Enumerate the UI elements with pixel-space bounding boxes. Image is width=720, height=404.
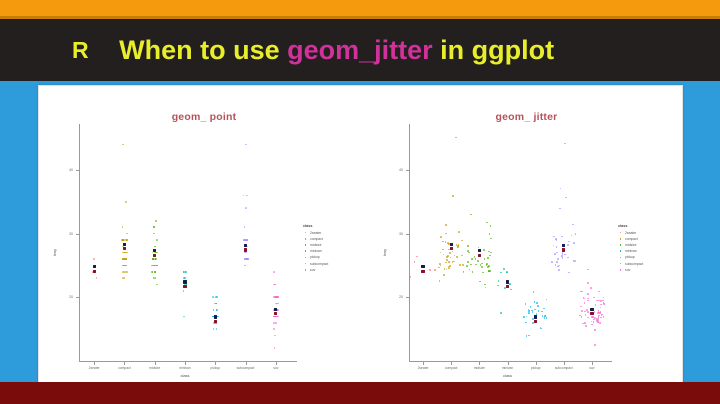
data-point xyxy=(600,300,602,302)
chart-title-left: geom_ point xyxy=(39,111,369,123)
legend-item-label: compact xyxy=(310,237,323,241)
data-point xyxy=(584,311,586,313)
data-point xyxy=(591,324,593,326)
data-point xyxy=(587,317,589,319)
data-point xyxy=(555,264,557,266)
data-point xyxy=(498,280,500,282)
legend-right: class2seatercompactmidsizeminivanpickups… xyxy=(618,224,643,273)
data-point xyxy=(593,297,595,299)
r-logo-label: R xyxy=(72,37,89,64)
data-point xyxy=(574,260,576,262)
legend-key-icon xyxy=(303,230,308,235)
mean-marker-crimson xyxy=(590,312,593,315)
data-point xyxy=(443,254,445,256)
data-point xyxy=(276,316,278,318)
data-point xyxy=(429,269,431,271)
data-point xyxy=(485,287,487,289)
data-point xyxy=(489,255,491,257)
data-point xyxy=(482,272,484,274)
legend-color-dot xyxy=(305,269,307,271)
data-point xyxy=(124,239,126,241)
data-point xyxy=(155,220,157,222)
data-point xyxy=(122,226,124,228)
data-point xyxy=(126,252,128,254)
mean-marker-crimson xyxy=(214,320,217,323)
data-point xyxy=(591,321,593,323)
data-point xyxy=(543,308,545,310)
x-axis-line xyxy=(79,361,297,362)
data-point xyxy=(557,266,559,268)
legend-key-icon xyxy=(618,267,623,272)
data-point xyxy=(216,296,218,298)
mean-marker-navy xyxy=(214,315,217,318)
data-point xyxy=(449,265,451,267)
x-tick xyxy=(215,362,216,365)
y-tick xyxy=(406,297,409,298)
data-point xyxy=(564,143,566,145)
data-point xyxy=(155,277,157,279)
data-point xyxy=(587,269,589,271)
data-point xyxy=(544,315,546,317)
data-point xyxy=(500,312,502,314)
data-point xyxy=(490,238,492,240)
mean-marker-crimson xyxy=(421,270,424,273)
mean-marker-navy xyxy=(506,280,509,283)
x-tick xyxy=(124,362,125,365)
data-point xyxy=(442,249,444,251)
x-tick xyxy=(246,362,247,365)
data-point xyxy=(213,328,215,330)
data-point xyxy=(93,258,95,260)
data-point xyxy=(452,195,454,197)
x-tick-label: pickup xyxy=(211,366,221,370)
data-point xyxy=(558,265,560,267)
data-point xyxy=(534,301,536,303)
data-point xyxy=(532,311,534,313)
legend-key-icon xyxy=(618,230,623,235)
mean-marker-crimson xyxy=(534,320,537,323)
mean-marker-navy xyxy=(478,249,481,252)
chart-title-right: geom_ jitter xyxy=(369,111,683,123)
data-point xyxy=(487,266,489,268)
data-point xyxy=(216,309,218,311)
data-point xyxy=(216,328,218,330)
data-point xyxy=(546,299,548,301)
data-point xyxy=(584,322,586,324)
data-point xyxy=(469,269,471,271)
data-point xyxy=(126,258,128,260)
data-point xyxy=(156,284,158,286)
mean-marker-navy xyxy=(562,244,565,247)
data-point xyxy=(598,310,600,312)
data-point xyxy=(594,317,596,319)
x-tick xyxy=(155,362,156,365)
data-point xyxy=(445,262,447,264)
data-point xyxy=(567,244,569,246)
data-point xyxy=(154,258,156,260)
data-point xyxy=(447,242,449,244)
data-point xyxy=(445,233,447,235)
data-point xyxy=(587,311,589,313)
legend-color-dot xyxy=(620,257,622,259)
data-point xyxy=(461,240,463,242)
data-point xyxy=(122,144,124,146)
data-point xyxy=(587,293,589,295)
data-point xyxy=(466,265,468,267)
data-point xyxy=(534,309,536,311)
data-point xyxy=(245,207,247,209)
data-point xyxy=(526,335,528,337)
data-point xyxy=(598,317,600,319)
data-point xyxy=(273,328,275,330)
data-point xyxy=(556,261,558,263)
legend-item-label: midsize xyxy=(310,243,322,247)
legend-item-label: suv xyxy=(625,268,630,272)
data-point xyxy=(455,137,457,139)
data-point xyxy=(122,271,124,273)
data-point xyxy=(470,264,472,266)
mean-marker-navy xyxy=(421,265,424,268)
data-point xyxy=(481,263,483,265)
data-point xyxy=(277,296,279,298)
data-point xyxy=(562,257,564,259)
data-point xyxy=(490,225,492,227)
data-point xyxy=(594,311,596,313)
data-point xyxy=(416,256,418,258)
data-point xyxy=(414,261,416,263)
data-point xyxy=(273,271,275,273)
legend-color-dot xyxy=(305,263,307,265)
legend-item-label: subcompact xyxy=(625,262,643,266)
data-point xyxy=(126,233,128,235)
x-tick xyxy=(94,362,95,365)
data-point xyxy=(540,328,542,330)
data-point xyxy=(581,310,583,312)
data-point xyxy=(274,296,276,298)
slide-title-row: R When to use geom_jitter in ggplot xyxy=(0,19,720,81)
data-point xyxy=(274,335,276,337)
data-point xyxy=(599,322,601,324)
data-point xyxy=(125,201,127,203)
data-point xyxy=(585,314,587,316)
data-point xyxy=(487,257,489,259)
data-point xyxy=(481,266,483,268)
data-point xyxy=(586,309,588,311)
mean-marker-navy xyxy=(93,265,96,268)
data-point xyxy=(156,239,158,241)
x-tick xyxy=(185,362,186,365)
mean-marker-navy xyxy=(153,249,156,252)
legend-color-dot xyxy=(305,232,307,234)
title-text-after: in ggplot xyxy=(433,35,554,65)
data-point xyxy=(442,241,444,243)
data-point xyxy=(245,144,247,146)
x-tick xyxy=(451,362,452,365)
data-point xyxy=(525,322,527,324)
legend-key-icon xyxy=(618,261,623,266)
bottom-accent-bar xyxy=(0,382,720,404)
data-point xyxy=(246,258,248,260)
data-point xyxy=(523,316,525,318)
data-point xyxy=(503,268,505,270)
data-point xyxy=(274,284,276,286)
data-point xyxy=(529,310,531,312)
legend-key-icon xyxy=(303,249,308,254)
y-axis-line xyxy=(79,124,80,361)
data-point xyxy=(246,195,248,197)
legend-color-dot xyxy=(305,250,307,252)
mean-marker-navy xyxy=(123,243,126,246)
data-point xyxy=(462,264,464,266)
x-tick-label: midsize xyxy=(149,366,160,370)
data-point xyxy=(183,316,185,318)
data-point xyxy=(557,258,559,260)
data-point xyxy=(562,253,564,255)
x-tick-label: 2seater xyxy=(89,366,100,370)
charts-card: geom_ point203040hwy2seatercompactmidsiz… xyxy=(38,85,683,392)
y-tick xyxy=(406,170,409,171)
data-point xyxy=(446,256,448,258)
mean-marker-navy xyxy=(183,280,186,283)
legend-item-label: subcompact xyxy=(310,262,328,266)
data-point xyxy=(124,277,126,279)
data-point xyxy=(479,281,481,283)
data-point xyxy=(126,271,128,273)
x-tick xyxy=(536,362,537,365)
data-point xyxy=(275,322,277,324)
mean-marker-navy xyxy=(244,244,247,247)
mean-marker-navy xyxy=(534,315,537,318)
x-tick xyxy=(592,362,593,365)
mean-marker-crimson xyxy=(478,254,481,257)
x-axis-title: class xyxy=(180,373,189,378)
data-point xyxy=(459,264,461,266)
legend-title: class xyxy=(303,224,328,228)
x-axis-line xyxy=(409,361,612,362)
y-tick-label: 40 xyxy=(389,168,403,172)
mean-marker-navy xyxy=(274,308,277,311)
data-point xyxy=(467,245,469,247)
data-point xyxy=(573,242,575,244)
y-tick-label: 20 xyxy=(59,295,73,299)
data-point xyxy=(155,246,157,248)
data-point xyxy=(537,305,539,307)
mean-marker-crimson xyxy=(123,247,126,250)
data-point xyxy=(564,254,566,256)
data-point xyxy=(553,245,555,247)
data-point xyxy=(483,249,485,251)
data-point xyxy=(533,291,535,293)
data-point xyxy=(489,233,491,235)
x-tick xyxy=(423,362,424,365)
data-point xyxy=(565,197,567,199)
data-point xyxy=(410,276,412,278)
legend-left: class2seatercompactmidsizeminivanpickups… xyxy=(303,224,328,273)
page-title: When to use geom_jitter in ggplot xyxy=(119,35,554,66)
data-point xyxy=(575,233,577,235)
data-point xyxy=(600,317,602,319)
data-point xyxy=(446,269,448,271)
data-point xyxy=(152,258,154,260)
data-point xyxy=(587,282,589,284)
data-point xyxy=(449,252,451,254)
data-point xyxy=(593,319,595,321)
data-point xyxy=(538,310,540,312)
data-point xyxy=(553,236,555,238)
data-point xyxy=(541,311,543,313)
data-point xyxy=(560,188,562,190)
data-point xyxy=(277,303,279,305)
data-point xyxy=(125,265,127,267)
data-point xyxy=(584,302,586,304)
data-point xyxy=(446,259,448,261)
data-point xyxy=(603,316,605,318)
x-tick xyxy=(508,362,509,365)
y-tick-label: 30 xyxy=(59,232,73,236)
data-point xyxy=(448,267,450,269)
data-point xyxy=(96,277,98,279)
y-tick-label: 40 xyxy=(59,168,73,172)
data-point xyxy=(216,303,218,305)
legend-color-dot xyxy=(620,269,622,271)
y-tick xyxy=(76,170,79,171)
x-tick-label: 2seater xyxy=(418,366,429,370)
data-point xyxy=(155,271,157,273)
title-code-token: geom_jitter xyxy=(287,35,433,65)
legend-color-dot xyxy=(620,244,622,246)
data-point xyxy=(506,272,508,274)
mean-marker-navy xyxy=(590,308,593,311)
data-point xyxy=(556,252,558,254)
legend-item-label: pickup xyxy=(310,255,320,259)
data-point xyxy=(486,222,488,224)
y-tick-label: 20 xyxy=(389,295,403,299)
chart-panel-geom-point: geom_ point203040hwy2seatercompactmidsiz… xyxy=(39,86,369,392)
mean-marker-crimson xyxy=(93,270,96,273)
data-point xyxy=(184,271,186,273)
legend-key-icon xyxy=(303,261,308,266)
data-point xyxy=(445,224,447,226)
x-tick-label: compact xyxy=(445,366,457,370)
data-point xyxy=(184,277,186,279)
data-point xyxy=(439,280,441,282)
x-tick-label: minivan xyxy=(179,366,190,370)
x-tick-label: pickup xyxy=(531,366,541,370)
legend-color-dot xyxy=(620,232,622,234)
x-tick xyxy=(564,362,565,365)
legend-item-label: midsize xyxy=(625,243,637,247)
mean-marker-crimson xyxy=(244,248,247,251)
data-point xyxy=(122,239,124,241)
data-point xyxy=(467,261,469,263)
data-point xyxy=(153,233,155,235)
y-tick xyxy=(76,234,79,235)
data-point xyxy=(556,246,558,248)
data-point xyxy=(526,316,528,318)
data-point xyxy=(183,290,185,292)
data-point xyxy=(582,323,584,325)
data-point xyxy=(559,208,561,210)
data-point xyxy=(544,317,546,319)
legend-item-label: minivan xyxy=(625,249,637,253)
legend-key-icon xyxy=(303,236,308,241)
x-tick xyxy=(276,362,277,365)
legend-color-dot xyxy=(620,250,622,252)
data-point xyxy=(598,291,600,293)
legend-item[interactable]: suv xyxy=(303,267,328,273)
data-point xyxy=(601,314,603,316)
data-point xyxy=(600,307,602,309)
chart-panel-geom-jitter: geom_ jitter203040hwy2seatercompactmidsi… xyxy=(369,86,683,392)
data-point xyxy=(571,235,573,237)
legend-color-dot xyxy=(620,263,622,265)
data-point xyxy=(528,335,530,337)
data-point xyxy=(558,269,560,271)
data-point xyxy=(594,344,596,346)
data-point xyxy=(434,269,436,271)
data-point xyxy=(528,312,530,314)
data-point xyxy=(561,236,563,238)
data-point xyxy=(468,252,470,254)
data-point xyxy=(153,226,155,228)
data-point xyxy=(450,257,452,259)
x-tick-label: compact xyxy=(118,366,130,370)
data-point xyxy=(122,258,124,260)
data-point xyxy=(475,258,477,260)
legend-key-icon xyxy=(303,242,308,247)
legend-key-icon xyxy=(618,249,623,254)
data-point xyxy=(471,258,473,260)
data-point xyxy=(580,291,582,293)
data-point xyxy=(567,257,569,259)
data-point xyxy=(273,322,275,324)
data-point xyxy=(591,316,593,318)
data-point xyxy=(488,270,490,272)
data-point xyxy=(580,306,582,308)
mean-marker-crimson xyxy=(183,285,186,288)
data-point xyxy=(525,303,527,305)
mean-marker-crimson xyxy=(153,254,156,257)
x-tick-label: suv xyxy=(589,366,594,370)
y-axis-title: hwy xyxy=(382,248,387,255)
data-point xyxy=(440,236,442,238)
x-tick-label: subcompact xyxy=(237,366,255,370)
y-axis-line xyxy=(409,124,410,361)
title-text-before: When to use xyxy=(119,35,287,65)
data-point xyxy=(602,300,604,302)
data-point xyxy=(463,271,465,273)
data-point xyxy=(484,284,486,286)
data-point xyxy=(475,264,477,266)
data-point xyxy=(212,296,214,298)
data-point xyxy=(603,297,605,299)
mean-marker-crimson xyxy=(506,285,509,288)
data-point xyxy=(245,239,247,241)
data-point xyxy=(274,347,276,349)
data-point xyxy=(500,272,502,274)
legend-item[interactable]: suv xyxy=(618,267,643,273)
legend-item-label: minivan xyxy=(310,249,322,253)
data-point xyxy=(453,261,455,263)
data-point xyxy=(247,239,249,241)
data-point xyxy=(599,312,601,314)
x-tick xyxy=(479,362,480,365)
mean-marker-crimson xyxy=(450,247,453,250)
mean-marker-crimson xyxy=(274,312,277,315)
mean-marker-navy xyxy=(450,243,453,246)
data-point xyxy=(530,306,532,308)
legend-key-icon xyxy=(618,236,623,241)
